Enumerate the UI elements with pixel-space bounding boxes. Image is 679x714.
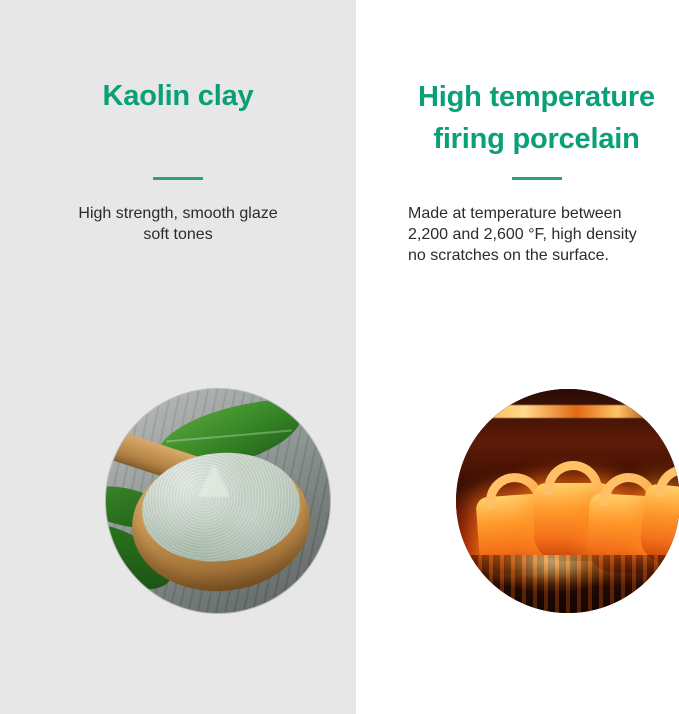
heading-divider-rule	[512, 177, 562, 180]
panel-body-high-temperature-firing: Made at temperature between 2,200 and 2,…	[408, 203, 679, 266]
body-line: High strength, smooth glaze	[78, 205, 277, 222]
product-photo-kiln-firing	[456, 389, 679, 613]
feature-panel-high-temperature-firing: High temperature firing porcelain Made a…	[356, 0, 679, 714]
heading-line: High temperature	[418, 81, 655, 113]
body-line: 2,200 and 2,600 °F, high density	[408, 226, 637, 243]
panel-heading-kaolin-clay: Kaolin clay	[0, 76, 356, 116]
product-photo-kaolin-clay	[106, 389, 330, 613]
photo-inner	[456, 389, 679, 613]
body-line: soft tones	[143, 226, 212, 243]
heading-line: firing porcelain	[433, 123, 639, 155]
feature-panel-kaolin-clay: Kaolin clay High strength, smooth glaze …	[0, 0, 356, 714]
clay-powder-peak	[198, 463, 230, 497]
panel-heading-high-temperature-firing: High temperature firing porcelain	[394, 76, 679, 160]
panel-body-kaolin-clay: High strength, smooth glaze soft tones	[22, 203, 334, 245]
kiln-roof-ember-lip	[480, 405, 656, 418]
feature-comparison-infographic: Kaolin clay High strength, smooth glaze …	[0, 0, 679, 714]
kiln-ember-floor	[456, 555, 679, 613]
body-line: no scratches on the surface.	[408, 247, 609, 264]
heading-divider-rule	[153, 177, 203, 180]
photo-inner	[106, 389, 330, 613]
body-line: Made at temperature between	[408, 205, 621, 222]
